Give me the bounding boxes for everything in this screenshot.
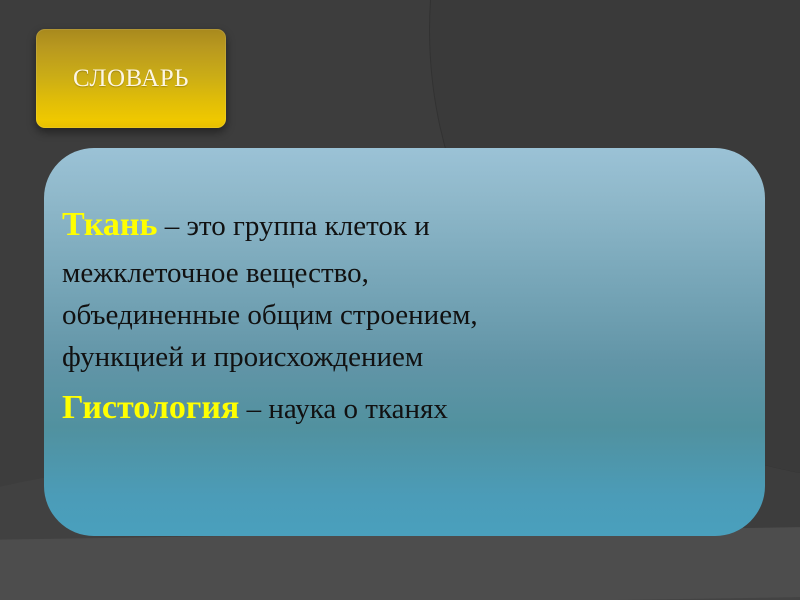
glossary-title-badge: СЛОВАРЬ	[36, 29, 226, 128]
glossary-content-card: Ткань – это группа клеток и межклеточное…	[44, 148, 765, 536]
definition-text-1: это группа клеток и	[186, 210, 429, 242]
term-dash-2: –	[247, 393, 262, 425]
glossary-definitions: Ткань – это группа клеток и межклеточное…	[62, 200, 719, 432]
definition-line-2: межклеточное вещество,	[62, 252, 719, 294]
definition-text-2: наука о тканях	[268, 393, 448, 425]
glossary-term-gistologiya: Гистология	[62, 389, 239, 426]
definition-line-1: Ткань – это группа клеток и	[62, 200, 719, 250]
slide-canvas: СЛОВАРЬ Ткань – это группа клеток и межк…	[0, 0, 800, 600]
definition-line-4: функцией и происхождением	[62, 336, 719, 378]
glossary-title-label: СЛОВАРЬ	[73, 65, 189, 93]
definition-line-5: Гистология – наука о тканях	[62, 383, 719, 433]
glossary-term-tkan: Ткань	[62, 206, 157, 243]
background-lower-band	[0, 527, 800, 600]
definition-line-3: объединенные общим строением,	[62, 294, 719, 336]
term-dash-1: –	[165, 210, 180, 242]
